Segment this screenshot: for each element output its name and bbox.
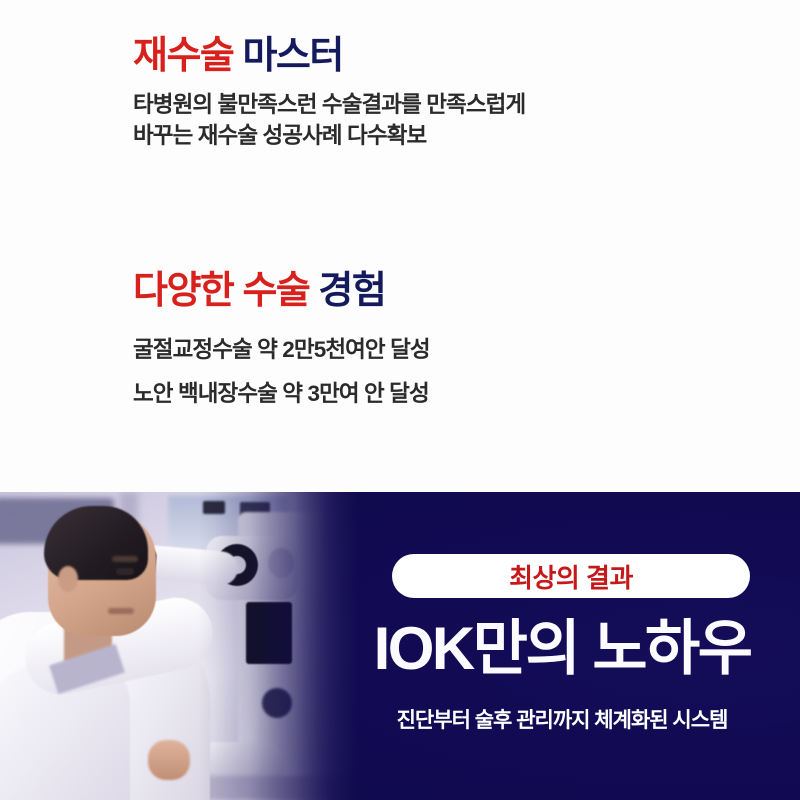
promo-poster: 재수술 마스터 타병원의 불만족스런 수술결과를 만족스럽게 바꾸는 재수술 성…: [0, 0, 800, 800]
best-result-badge: 최상의 결과: [392, 554, 750, 598]
body-line: 굴절교정수술 약 2만5천여안 달성: [133, 328, 430, 372]
white-content-section: 재수술 마스터 타병원의 불만족스런 수술결과를 만족스럽게 바꾸는 재수술 성…: [0, 0, 800, 492]
body-lines-resurgery-master: 타병원의 불만족스런 수술결과를 만족스럽게 바꾸는 재수술 성공사례 다수확보: [133, 89, 525, 151]
feature-block-surgery-experience: 다양한 수술 경험 굴절교정수술 약 2만5천여안 달성 노안 백내장수술 약 …: [133, 271, 430, 416]
photo-fade-overlay: [0, 492, 360, 800]
headline-red-part: 재수술: [133, 35, 233, 77]
banner-subtitle: 진단부터 술후 관리까지 체계화된 시스템: [336, 704, 788, 734]
headline-resurgery-master: 재수술 마스터: [133, 36, 525, 77]
body-line: 타병원의 불만족스런 수술결과를 만족스럽게: [133, 89, 525, 120]
headline-navy-part: 마스터: [242, 35, 342, 77]
body-lines-surgery-experience: 굴절교정수술 약 2만5천여안 달성 노안 백내장수술 약 3만여 안 달성: [133, 328, 430, 416]
brand-headline: IOK만의 노하우: [336, 619, 788, 679]
dark-banner-section: 최상의 결과 IOK만의 노하우 진단부터 술후 관리까지 체계화된 시스템: [0, 492, 800, 800]
headline-navy-part: 경험: [318, 270, 385, 312]
feature-block-resurgery-master: 재수술 마스터 타병원의 불만족스런 수술결과를 만족스럽게 바꾸는 재수술 성…: [133, 36, 525, 151]
doctor-slit-lamp-photo: [0, 492, 360, 800]
best-result-badge-label: 최상의 결과: [509, 558, 633, 595]
headline-surgery-experience: 다양한 수술 경험: [133, 271, 430, 312]
body-line: 바꾸는 재수술 성공사례 다수확보: [133, 120, 525, 151]
body-line: 노안 백내장수술 약 3만여 안 달성: [133, 372, 430, 416]
headline-red-part: 다양한 수술: [133, 270, 309, 312]
